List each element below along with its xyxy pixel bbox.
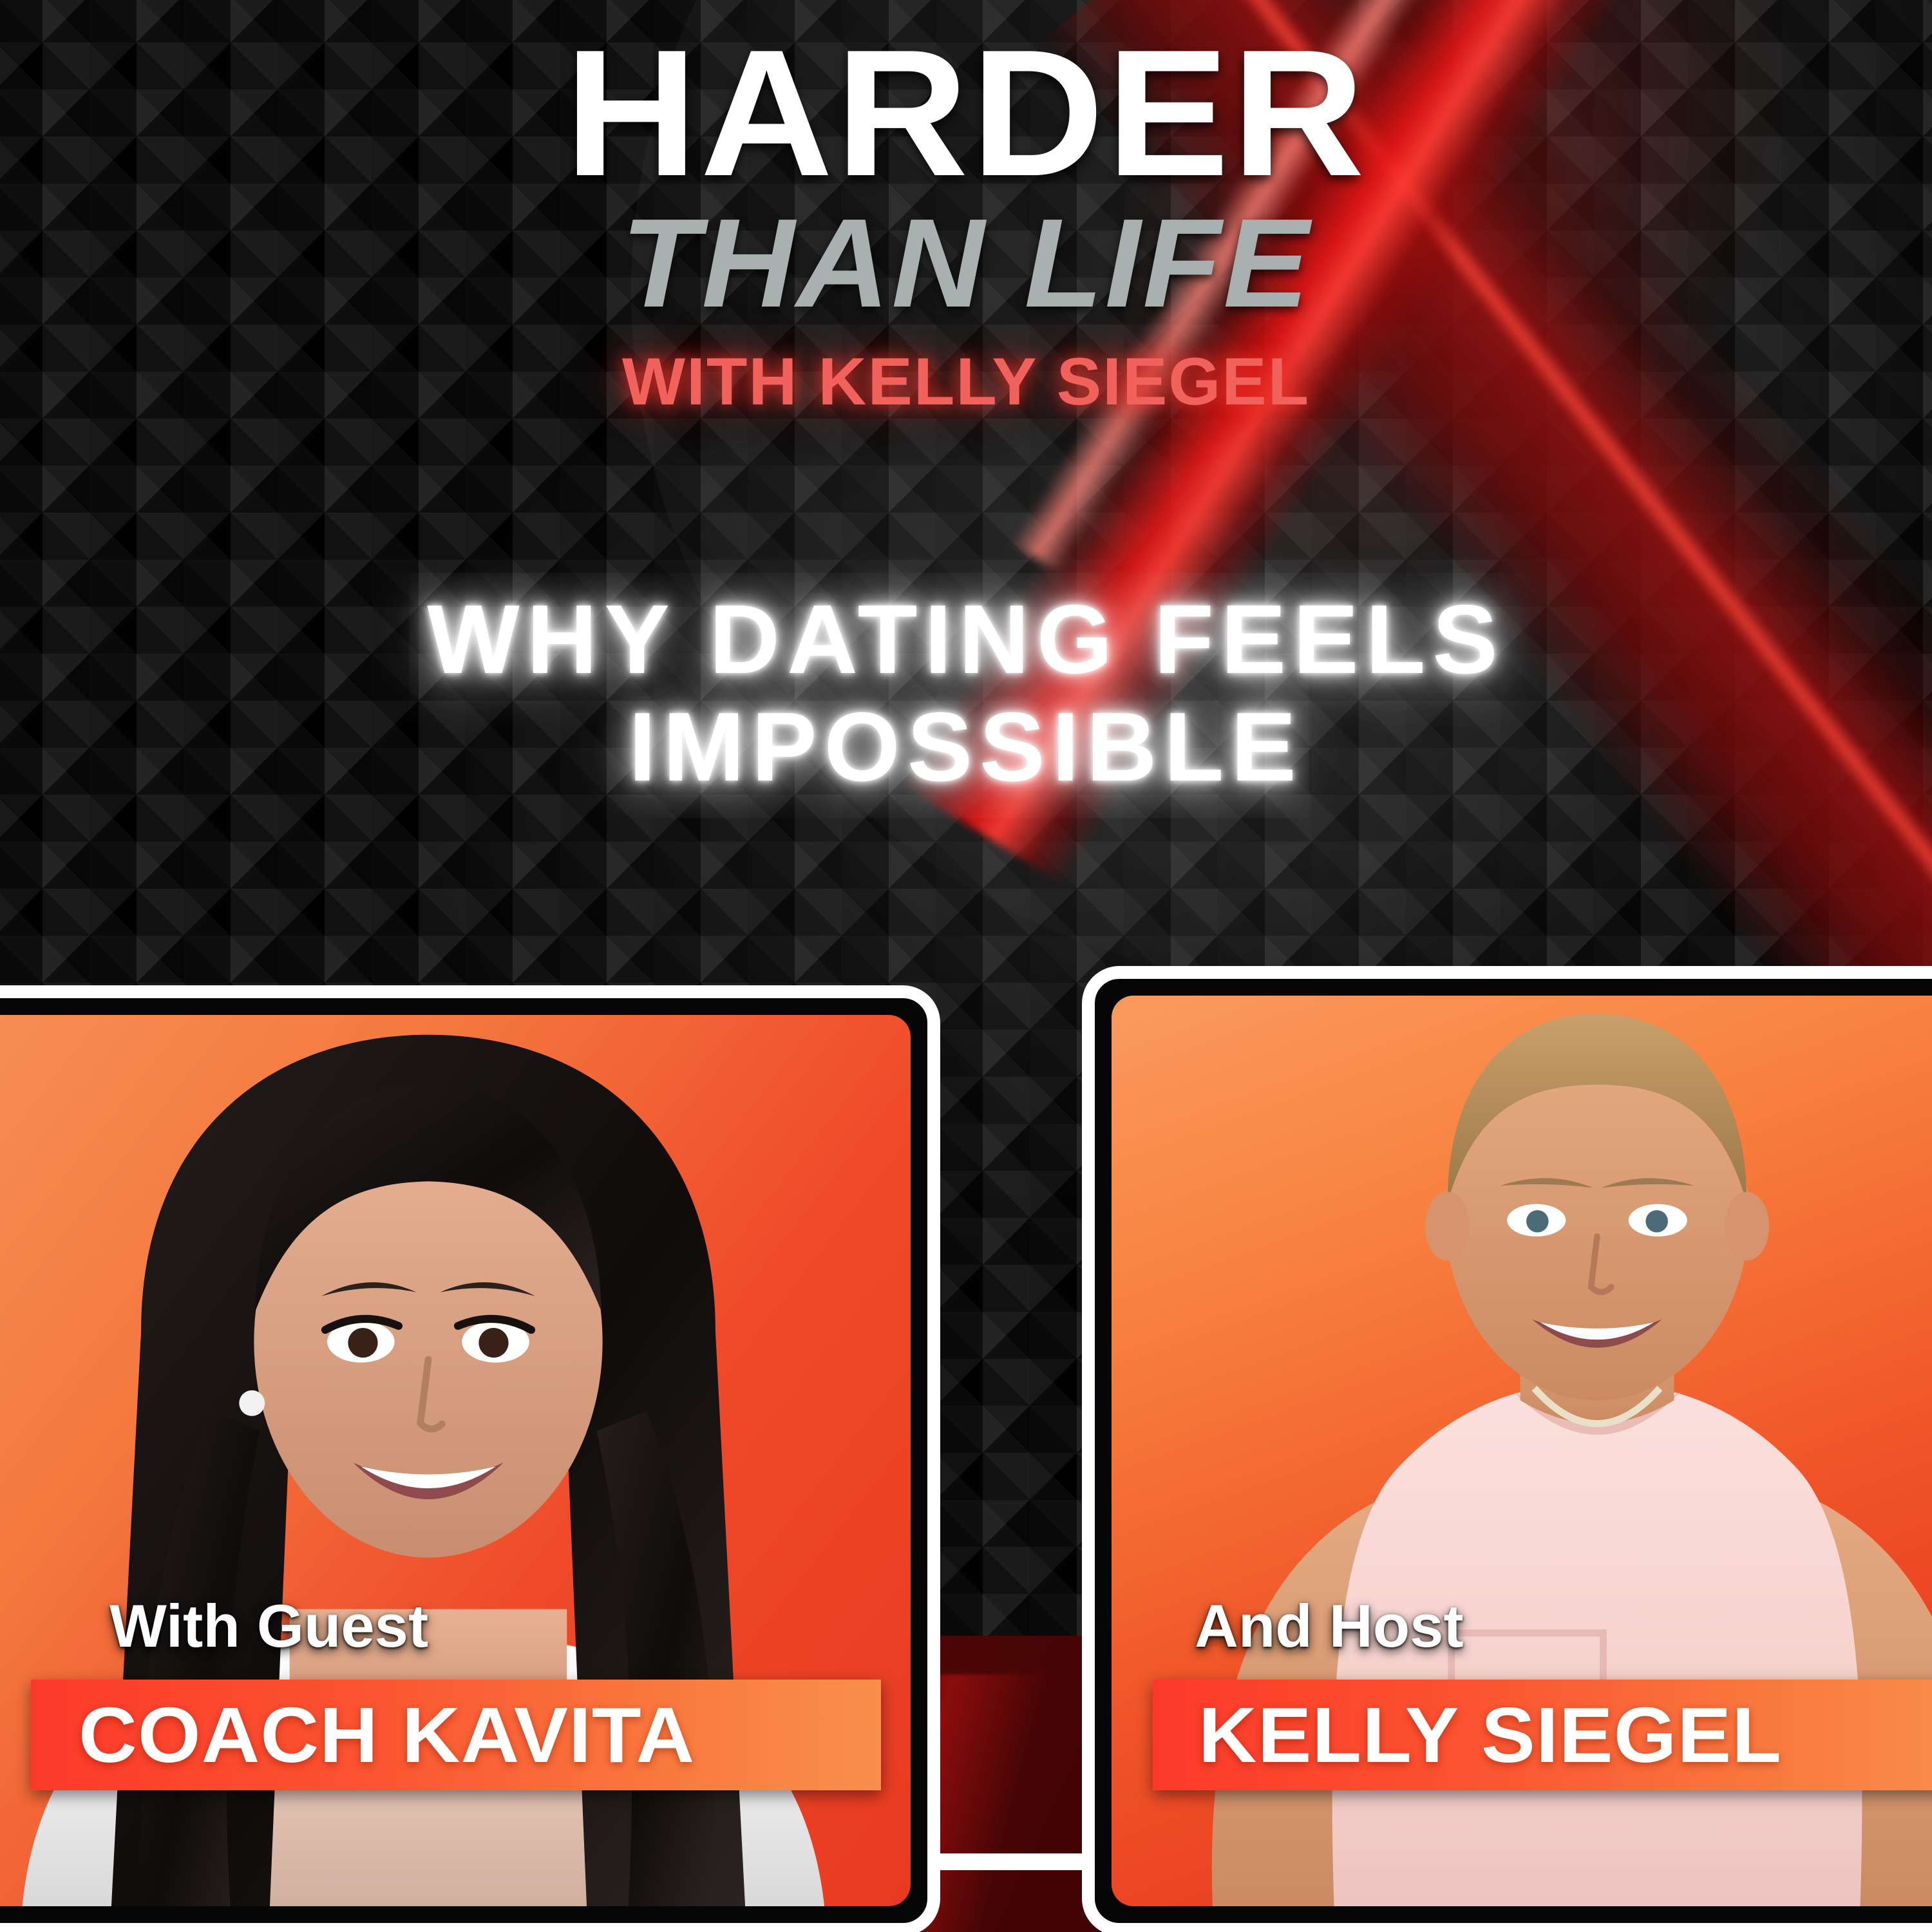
host-role-label: And Host	[1195, 1596, 1464, 1656]
episode-title: WHY DATING FEELS IMPOSSIBLE	[0, 586, 1932, 801]
episode-title-line-2: IMPOSSIBLE	[0, 694, 1932, 801]
show-branding: HARDER THAN LIFE WITH KELLY SIEGEL	[0, 0, 1932, 415]
show-host-tagline: WITH KELLY SIEGEL	[0, 327, 1932, 415]
host-name-plate: KELLY SIEGEL	[1153, 1680, 1932, 1790]
host-name: KELLY SIEGEL	[1198, 1696, 1782, 1774]
guest-name-plate: COACH KAVITA	[31, 1680, 881, 1790]
show-title-line-1: HARDER	[0, 0, 1932, 200]
guest-role-label: With Guest	[109, 1596, 428, 1656]
podcast-cover-art: HARDER THAN LIFE WITH KELLY SIEGEL WHY D…	[0, 0, 1932, 1932]
show-title-line-2: THAN LIFE	[0, 200, 1932, 327]
guest-name: COACH KAVITA	[79, 1696, 695, 1774]
episode-title-line-1: WHY DATING FEELS	[0, 586, 1932, 694]
